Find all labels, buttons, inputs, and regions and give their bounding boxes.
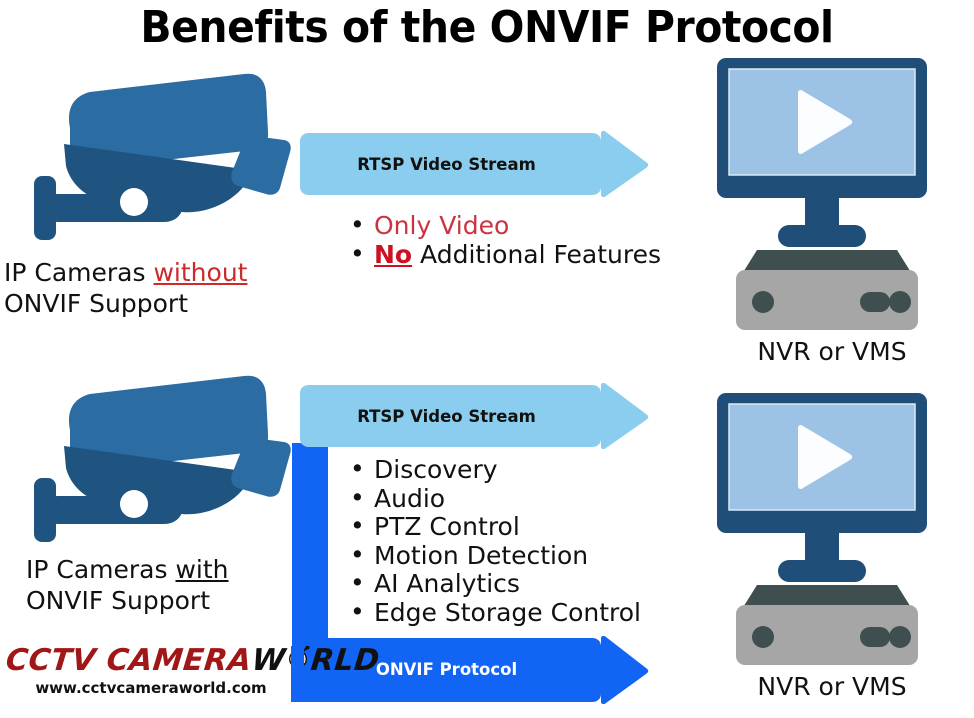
feature-emphasis: No [374, 240, 412, 269]
feature-text: Motion Detection [374, 541, 588, 570]
logo-url: www.cctvcameraworld.com [6, 679, 296, 697]
feature-item: PTZ Control [348, 513, 641, 542]
feature-item: Only Video [348, 212, 661, 241]
camera-label-top-line2: ONVIF Support [4, 289, 188, 318]
cctv-camera-icon-top [22, 70, 292, 260]
camera-svg [22, 70, 292, 260]
rtsp-arrow-top: RTSP Video Stream [292, 131, 649, 197]
feature-item: AI Analytics [348, 570, 641, 599]
camera-svg [22, 372, 292, 562]
camera-label-top-emphasis: without [153, 258, 247, 287]
feature-text: Only Video [374, 211, 509, 240]
nvr-monitor-icon-bottom [712, 393, 952, 671]
page-title: Benefits of the ONVIF Protocol [34, 2, 940, 53]
cctv-camera-icon-bottom [22, 372, 292, 562]
feature-text: PTZ Control [374, 512, 520, 541]
feature-item: Motion Detection [348, 542, 641, 571]
nvr-monitor-svg [712, 393, 952, 671]
nvr-monitor-svg [712, 58, 952, 336]
camera-label-bottom-line2: ONVIF Support [26, 586, 210, 615]
rtsp-arrow-bottom-shape [292, 383, 649, 449]
feature-text: Discovery [374, 455, 498, 484]
feature-text: AI Analytics [374, 569, 520, 598]
feature-item: Audio [348, 485, 641, 514]
logo-brand-part2-pre: W [250, 646, 287, 676]
logo-brand-part1: CCTV CAMERA [4, 646, 253, 676]
onvif-connector-bar [292, 443, 328, 658]
camera-label-top-line1-prefix: IP Cameras [4, 258, 153, 287]
rtsp-arrow-top-shape [292, 131, 649, 197]
feature-item: Edge Storage Control [348, 599, 641, 628]
logo-brand-part2-post: RLD [310, 646, 382, 676]
camera-label-top: IP Cameras without ONVIF Support [4, 258, 247, 319]
brand-logo[interactable]: CCTV CAMERA W RLD www.cctvcameraworld.co… [6, 646, 296, 697]
infographic-canvas: Benefits of the ONVIF Protocol [0, 0, 974, 718]
nvr-monitor-icon-top [712, 58, 952, 336]
camera-label-bottom: IP Cameras with ONVIF Support [26, 555, 229, 616]
feature-text: Edge Storage Control [374, 598, 641, 627]
feature-item: Discovery [348, 456, 641, 485]
features-list-bottom: Discovery Audio PTZ Control Motion Detec… [348, 456, 641, 627]
nvr-label-bottom: NVR or VMS [712, 672, 952, 701]
logo-wordmark: CCTV CAMERA W RLD [6, 646, 296, 676]
logo-accent-bar [291, 646, 304, 702]
features-list-top: Only Video No Additional Features [348, 212, 661, 269]
camera-label-bottom-emphasis: with [175, 555, 228, 584]
feature-text: Additional Features [412, 240, 661, 269]
feature-text: Audio [374, 484, 445, 513]
feature-item: No Additional Features [348, 241, 661, 270]
camera-label-bottom-line1-prefix: IP Cameras [26, 555, 175, 584]
nvr-label-top: NVR or VMS [712, 337, 952, 366]
rtsp-arrow-bottom: RTSP Video Stream [292, 383, 649, 449]
